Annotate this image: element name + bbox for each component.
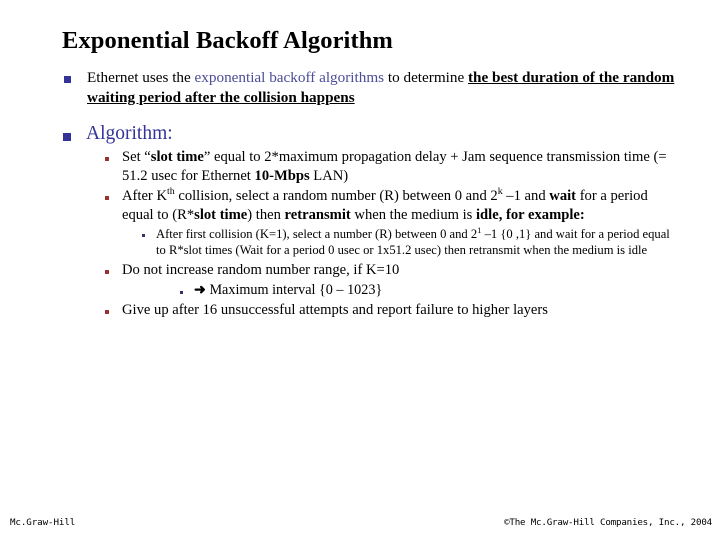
kth-sup1: th — [167, 187, 175, 198]
kth-p6: when the medium is — [351, 207, 476, 223]
algorithm-heading-text: Algorithm: — [86, 121, 678, 146]
kth-p2: collision, select a random number (R) be… — [175, 188, 498, 204]
bullet-max-interval: ➜ Maximum interval {0 – 1023} — [178, 281, 678, 299]
intro-accent: exponential backoff algorithms — [195, 69, 385, 86]
bullet-no-increase: Do not increase random number range, if … — [103, 261, 678, 280]
kth-b1: wait — [549, 188, 576, 204]
slot-time-p2: ” equal to 2*maximum propagation delay +… — [122, 149, 667, 184]
intro-plain-2: to determine — [384, 69, 468, 86]
kth-b4: idle, for example: — [476, 207, 585, 223]
bullet-max-interval-text: ➜ Maximum interval {0 – 1023} — [194, 281, 678, 299]
bullet-square-icon — [105, 270, 109, 274]
bullet-first-collision: After first collision (K=1), select a nu… — [140, 226, 678, 258]
bullet-square-icon — [180, 291, 183, 294]
bullet-kth-collision-text: After Kth collision, select a random num… — [122, 187, 678, 225]
kth-p5: ) then — [247, 207, 284, 223]
bullet-square-icon — [64, 76, 71, 83]
bullet-slot-time-text: Set “slot time” equal to 2*maximum propa… — [122, 148, 678, 186]
intro-plain-1: Ethernet uses the — [87, 69, 195, 86]
bullet-square-icon — [105, 310, 109, 314]
kth-b2: slot time — [194, 207, 247, 223]
slot-time-p3: LAN) — [310, 168, 349, 184]
bullet-square-icon — [105, 157, 109, 161]
footer-left-text: Mc.Graw-Hill — [10, 517, 75, 528]
bullet-kth-collision: After Kth collision, select a random num… — [103, 187, 678, 225]
footer-right-copyright: ©The Mc.Graw-Hill Companies, Inc., 2004 — [504, 517, 712, 528]
bullet-first-collision-text: After first collision (K=1), select a nu… — [156, 226, 678, 258]
kth-p1: After K — [122, 188, 167, 204]
arrow-right-icon: ➜ — [194, 282, 206, 298]
bullet-square-icon — [142, 234, 145, 237]
bullet-no-increase-text: Do not increase random number range, if … — [122, 261, 678, 280]
slot-time-b2: 10-Mbps — [255, 168, 310, 184]
kth-b3: retransmit — [285, 207, 351, 223]
bullet-square-icon — [105, 196, 109, 200]
first-collision-p1: After first collision (K=1), select a nu… — [156, 227, 477, 241]
kth-p3: –1 and — [503, 188, 550, 204]
slot-time-b1: slot time — [151, 149, 204, 165]
slide-title: Exponential Backoff Algorithm — [62, 28, 662, 55]
bullet-square-icon — [63, 133, 71, 141]
bullet-give-up-text: Give up after 16 unsuccessful attempts a… — [122, 301, 678, 320]
slot-time-p1: Set “ — [122, 149, 151, 165]
slide-root: Exponential Backoff Algorithm Ethernet u… — [0, 0, 720, 540]
bullet-intro: Ethernet uses the exponential backoff al… — [58, 68, 678, 108]
bullet-slot-time: Set “slot time” equal to 2*maximum propa… — [103, 148, 678, 186]
slide-body: Ethernet uses the exponential backoff al… — [58, 68, 678, 321]
bullet-algorithm-heading: Algorithm: — [58, 121, 678, 146]
max-interval-label: Maximum interval {0 – 1023} — [206, 282, 382, 298]
bullet-give-up: Give up after 16 unsuccessful attempts a… — [103, 301, 678, 320]
bullet-intro-text: Ethernet uses the exponential backoff al… — [87, 68, 678, 108]
